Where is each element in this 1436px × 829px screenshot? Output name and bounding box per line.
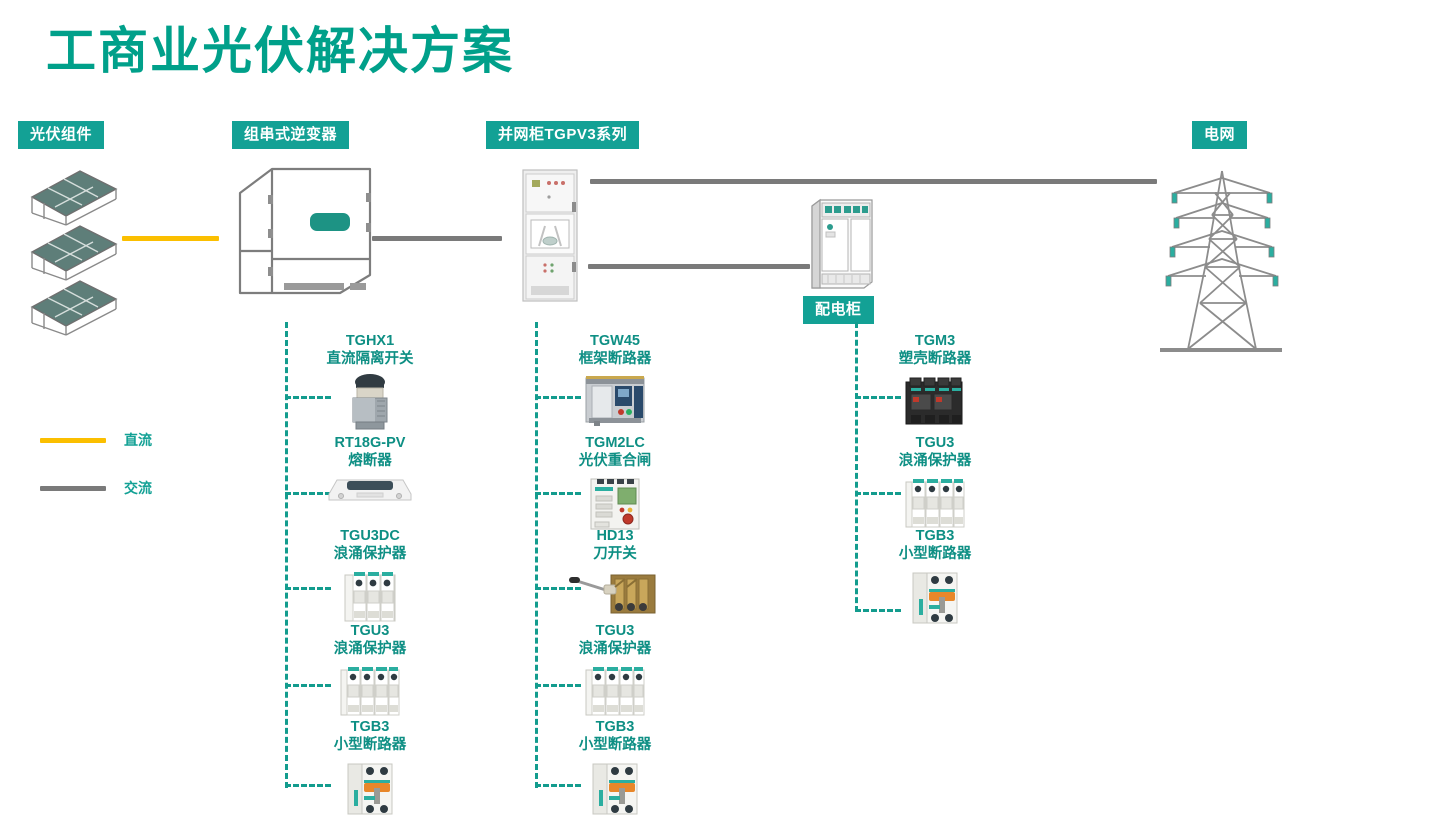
product-desc: 直流隔离开关: [275, 350, 465, 368]
knife-switch-image: [567, 567, 663, 621]
product-item: TGB3 小型断路器: [275, 718, 465, 818]
product-model: TGU3: [840, 434, 1030, 452]
badge-distribution-cabinet: 配电柜: [803, 296, 874, 324]
distribution-cabinet: [806, 196, 878, 291]
badge-power-grid: 电网: [1192, 121, 1247, 149]
spd-4pole-image: [337, 662, 403, 720]
legend-item-ac: 交流: [40, 478, 152, 498]
product-item: TGU3 浪涌保护器: [520, 622, 710, 720]
badge-pv-modules: 光伏组件: [18, 121, 104, 149]
pv-panel-array-icon: [20, 163, 130, 323]
product-item: RT18G-PV 熔断器: [275, 434, 465, 504]
spd-4pole-image: [582, 662, 648, 720]
mcb-image: [342, 758, 398, 818]
product-desc: 浪涌保护器: [840, 452, 1030, 470]
product-model: TGM3: [840, 332, 1030, 350]
spd-3pole-image: [339, 567, 401, 625]
ac-flow-line-cabinet-to-distribution: [588, 264, 810, 269]
product-desc: 框架断路器: [520, 350, 710, 368]
product-model: RT18G-PV: [275, 434, 465, 452]
dc-isolator-switch-image: [339, 372, 401, 432]
pv-panel-array: [20, 163, 130, 323]
mcb-image: [587, 758, 643, 818]
grid-connection-cabinet: [521, 168, 579, 303]
product-desc: 浪涌保护器: [275, 640, 465, 658]
product-item: HD13 刀开关: [520, 527, 710, 621]
product-item: TGM2LC 光伏重合闸: [520, 434, 710, 532]
string-inverter-icon: [232, 163, 377, 303]
product-desc: 浪涌保护器: [275, 545, 465, 563]
product-item: TGU3DC 浪涌保护器: [275, 527, 465, 625]
product-model: TGW45: [520, 332, 710, 350]
distribution-cabinet-icon: [806, 196, 878, 291]
grid-connection-cabinet-icon: [521, 168, 579, 303]
legend-label-dc: 直流: [124, 430, 152, 450]
diagram-canvas: 工商业光伏解决方案 光伏组件 组串式逆变器 并网柜TGPV3系列 配电柜 电网 …: [0, 0, 1436, 829]
product-item: TGB3 小型断路器: [520, 718, 710, 818]
product-model: TGHX1: [275, 332, 465, 350]
string-inverter: [232, 163, 377, 303]
product-item: TGB3 小型断路器: [840, 527, 1030, 627]
product-desc: 刀开关: [520, 545, 710, 563]
product-model: TGB3: [520, 718, 710, 736]
product-desc: 小型断路器: [275, 736, 465, 754]
legend-swatch-dc-icon: [40, 438, 106, 443]
product-model: HD13: [520, 527, 710, 545]
product-model: TGU3DC: [275, 527, 465, 545]
product-item: TGU3 浪涌保护器: [840, 434, 1030, 532]
product-model: TGU3: [275, 622, 465, 640]
transmission-tower-icon: [1160, 163, 1285, 358]
product-item: TGU3 浪涌保护器: [275, 622, 465, 720]
product-model: TGU3: [520, 622, 710, 640]
legend-item-dc: 直流: [40, 430, 152, 450]
product-model: TGM2LC: [520, 434, 710, 452]
product-desc: 熔断器: [275, 452, 465, 470]
dc-flow-line-pv-to-inverter: [122, 236, 219, 241]
product-item: TGW45 框架断路器: [520, 332, 710, 427]
product-item: TGM3 塑壳断路器: [840, 332, 1030, 430]
legend-swatch-ac-icon: [40, 486, 106, 491]
product-desc: 浪涌保护器: [520, 640, 710, 658]
ac-flow-line-inverter-to-grid-cabinet: [372, 236, 502, 241]
badge-grid-cabinet: 并网柜TGPV3系列: [486, 121, 639, 149]
transmission-tower: [1160, 163, 1285, 358]
page-title: 工商业光伏解决方案: [46, 24, 514, 79]
product-desc: 塑壳断路器: [840, 350, 1030, 368]
recloser-image: [586, 474, 644, 532]
product-model: TGB3: [840, 527, 1030, 545]
product-desc: 小型断路器: [840, 545, 1030, 563]
badge-string-inverter: 组串式逆变器: [232, 121, 349, 149]
mcb-image: [907, 567, 963, 627]
product-item: TGHX1 直流隔离开关: [275, 332, 465, 432]
legend-label-ac: 交流: [124, 478, 152, 498]
product-desc: 光伏重合闸: [520, 452, 710, 470]
spd-4pole-image: [902, 474, 968, 532]
mccb-image: [902, 372, 968, 430]
air-circuit-breaker-image: [582, 372, 648, 427]
product-desc: 小型断路器: [520, 736, 710, 754]
product-model: TGB3: [275, 718, 465, 736]
fuse-holder-image: [327, 474, 413, 504]
ac-flow-line-cabinet-to-pylon: [590, 179, 1157, 184]
